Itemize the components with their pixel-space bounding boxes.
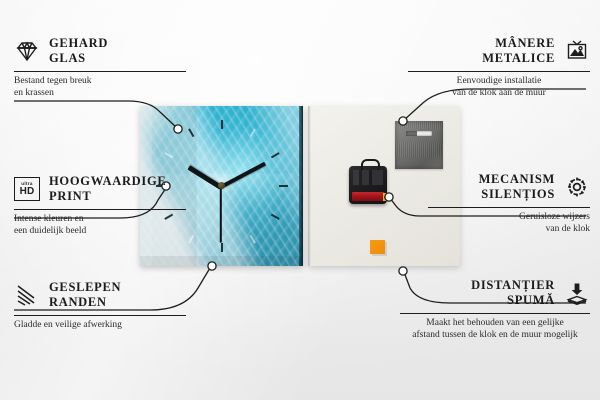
hour-mark-6 xyxy=(221,243,223,252)
title-line-1: GESLEPEN xyxy=(49,280,121,295)
callout-title: MÂNERE METALICE xyxy=(482,36,555,67)
diamond-icon xyxy=(14,39,40,63)
desc-line-1: Intense kleuren en xyxy=(14,213,186,226)
callout-head: GESLEPEN RANDEN xyxy=(14,280,186,311)
title-line-1: DISTANȚIER xyxy=(471,278,555,293)
title-line-2: SPUMĂ xyxy=(471,293,555,308)
picture-hanging-icon xyxy=(564,39,590,63)
desc-line-1: Maakt het behouden van een gelijke xyxy=(400,317,590,330)
callout-description: Gladde en veilige afwerking xyxy=(14,319,186,332)
beveled-edges-icon xyxy=(14,283,40,307)
hanger-slot xyxy=(406,131,432,136)
title-line-1: MÂNERE xyxy=(482,36,555,51)
foam-spacer-icon xyxy=(564,281,590,305)
callout-divider xyxy=(428,207,590,208)
callout-description: Geruisloze wijzers van de klok xyxy=(428,211,590,236)
callout-divider xyxy=(14,315,186,316)
callout-head: MECANISM SILENȚIOS xyxy=(428,172,590,203)
title-line-2: METALICE xyxy=(482,51,555,66)
callout-print: ultra HD HOOGWAARDIGE PRINT Intense kleu… xyxy=(14,174,186,238)
hands-center-cap xyxy=(218,182,225,189)
callout-title: GESLEPEN RANDEN xyxy=(49,280,121,311)
callout-mechanism: MECANISM SILENȚIOS Geruisloze wijzers va… xyxy=(428,172,590,236)
desc-line-2: van de klok xyxy=(428,223,590,236)
hour-mark-12 xyxy=(221,120,223,129)
metal-hanger-plate xyxy=(395,121,443,169)
title-line-2: RANDEN xyxy=(49,295,121,310)
glass-beveled-edge xyxy=(299,106,303,266)
desc-line-1: Gladde en veilige afwerking xyxy=(14,319,186,332)
foam-spacer xyxy=(370,240,385,254)
callout-title: MECANISM SILENȚIOS xyxy=(479,172,555,203)
desc-line-2: een duidelijk beeld xyxy=(14,225,186,238)
desc-line-1: Geruisloze wijzers xyxy=(428,211,590,224)
callout-title: GEHARD GLAS xyxy=(49,36,108,67)
callout-tempered-glass: GEHARD GLAS Bestand tegen breuk en krass… xyxy=(14,36,186,100)
callout-edges: GESLEPEN RANDEN Gladde en veilige afwerk… xyxy=(14,280,186,331)
title-line-1: HOOGWAARDIGE xyxy=(49,174,166,189)
callout-description: Maakt het behouden van een gelijke afsta… xyxy=(400,317,590,342)
back-panel-edge xyxy=(308,106,311,266)
title-line-2: PRINT xyxy=(49,189,166,204)
callout-description: Intense kleuren en een duidelijk beeld xyxy=(14,213,186,238)
hour-mark-3 xyxy=(279,185,288,187)
callout-divider xyxy=(14,209,186,210)
connector-dot-spacer xyxy=(399,267,407,275)
badge-large-text: HD xyxy=(20,187,35,197)
callout-divider xyxy=(400,313,590,314)
callout-description: Bestand tegen breuk en krassen xyxy=(14,75,186,100)
callout-divider xyxy=(408,71,590,72)
ultra-hd-badge-icon: ultra HD xyxy=(14,177,40,201)
callout-head: MÂNERE METALICE xyxy=(408,36,590,67)
callout-head: DISTANȚIER SPUMĂ xyxy=(400,278,590,309)
silent-clock-mechanism xyxy=(349,166,387,204)
callout-head: ultra HD HOOGWAARDIGE PRINT xyxy=(14,174,186,205)
desc-line-1: Bestand tegen breuk xyxy=(14,75,186,88)
gear-icon xyxy=(564,175,590,199)
title-line-1: GEHARD xyxy=(49,36,108,51)
second-hand xyxy=(220,187,222,243)
desc-line-2: en krassen xyxy=(14,87,186,100)
aa-battery xyxy=(352,192,384,201)
callout-divider xyxy=(14,71,186,72)
callout-spacer: DISTANȚIER SPUMĂ Maakt het behouden van … xyxy=(400,278,590,342)
desc-line-2: afstand tussen de klok en de muur mogeli… xyxy=(400,329,590,342)
product-image-glass-wall-clock xyxy=(140,106,460,266)
callout-head: GEHARD GLAS xyxy=(14,36,186,67)
callout-title: HOOGWAARDIGE PRINT xyxy=(49,174,166,205)
title-line-1: MECANISM xyxy=(479,172,555,187)
desc-line-1: Eenvoudige installatie xyxy=(408,75,590,88)
callout-handles: MÂNERE METALICE Eenvoudige installatie v… xyxy=(408,36,590,100)
callout-title: DISTANȚIER SPUMĂ xyxy=(471,278,555,309)
battery-plus-terminal-icon xyxy=(383,193,389,201)
callout-description: Eenvoudige installatie van de klok aan d… xyxy=(408,75,590,100)
title-line-2: SILENȚIOS xyxy=(479,187,555,202)
mechanism-housing-detail xyxy=(353,170,383,185)
title-line-2: GLAS xyxy=(49,51,108,66)
product-infographic: GEHARD GLAS Bestand tegen breuk en krass… xyxy=(0,0,600,400)
desc-line-2: van de klok aan de muur xyxy=(408,87,590,100)
